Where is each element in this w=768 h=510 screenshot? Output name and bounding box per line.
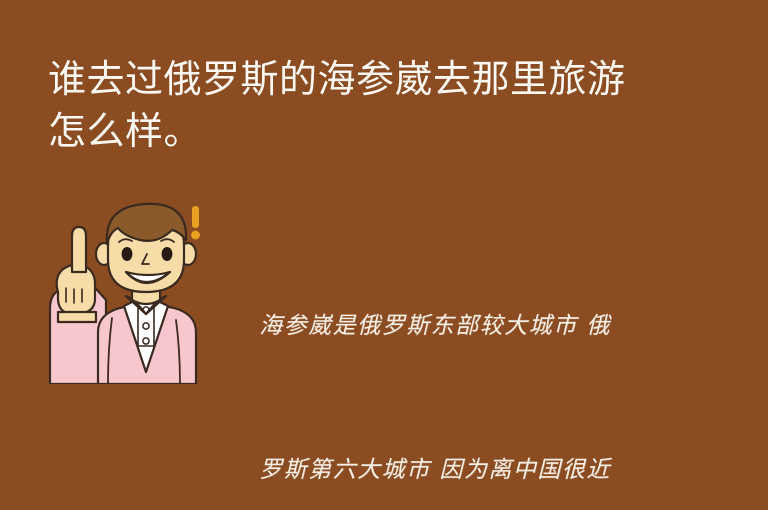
exclamation-icon xyxy=(191,206,200,239)
cartoon-man-pointing-up-illustration xyxy=(28,196,212,384)
answer-body-text: 海参崴是俄罗斯东部较大城市 俄 罗斯第六大城市 因为离中国很近 成为中国居民经常… xyxy=(222,206,648,510)
cartoon-man-svg xyxy=(28,196,212,384)
body-line: 罗斯第六大城市 因为离中国很近 xyxy=(222,446,648,494)
index-finger xyxy=(72,227,86,272)
eye-left xyxy=(122,247,133,261)
page-title: 谁去过俄罗斯的海参崴去那里旅游怎么样。 xyxy=(48,54,648,158)
answer-card: 谁去过俄罗斯的海参崴去那里旅游怎么样。 xyxy=(0,0,768,510)
shirt-button xyxy=(143,338,149,344)
wrist xyxy=(58,312,96,322)
body-line: 海参崴是俄罗斯东部较大城市 俄 xyxy=(222,302,648,350)
shirt-button xyxy=(143,323,149,329)
eye-right xyxy=(162,247,173,261)
